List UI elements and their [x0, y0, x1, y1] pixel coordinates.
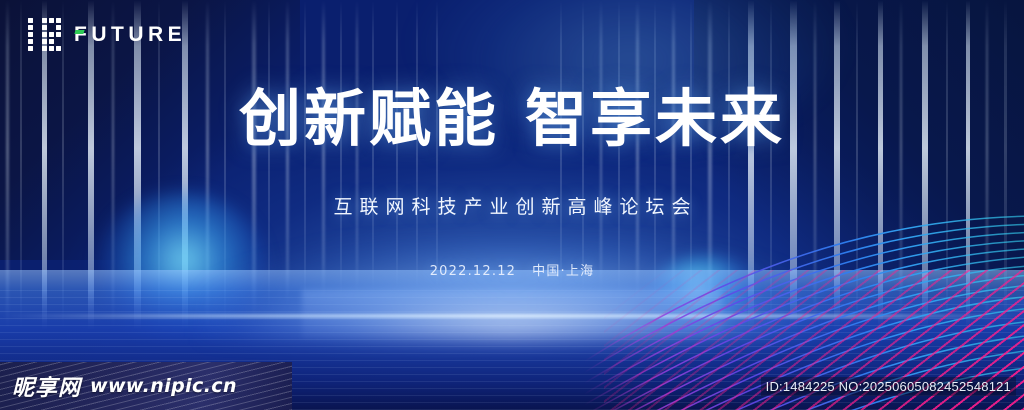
logo-wordmark-text: FUTURE — [74, 23, 186, 46]
headline-part-1: 创新赋能 — [239, 82, 499, 155]
watermark-bar: 昵享网 www.nipic.cn — [0, 362, 292, 410]
page-subtitle: 互联网科技产业创新高峰论坛会 — [0, 192, 1024, 219]
image-id-strip: ID:1484225 NO:20250605082452548121 — [761, 377, 1016, 396]
watermark-site-name: 昵享网 — [12, 370, 81, 402]
logo-green-accent-icon — [74, 30, 84, 34]
event-dateline: 2022.12.12中国·上海 — [0, 260, 1024, 279]
brand-logo[interactable]: FUTURE — [28, 18, 186, 51]
event-location: 中国·上海 — [532, 264, 594, 279]
poster-canvas: FUTURE 创新赋能智享未来 互联网科技产业创新高峰论坛会 2022.12.1… — [0, 0, 1024, 410]
pixel-grid-icon — [28, 18, 61, 51]
watermark-url: www.nipic.cn — [90, 375, 237, 397]
logo-wordmark: FUTURE — [74, 23, 186, 47]
page-title: 创新赋能智享未来 — [0, 88, 1024, 150]
headline-part-2: 智享未来 — [525, 82, 785, 155]
event-date: 2022.12.12 — [430, 264, 516, 279]
